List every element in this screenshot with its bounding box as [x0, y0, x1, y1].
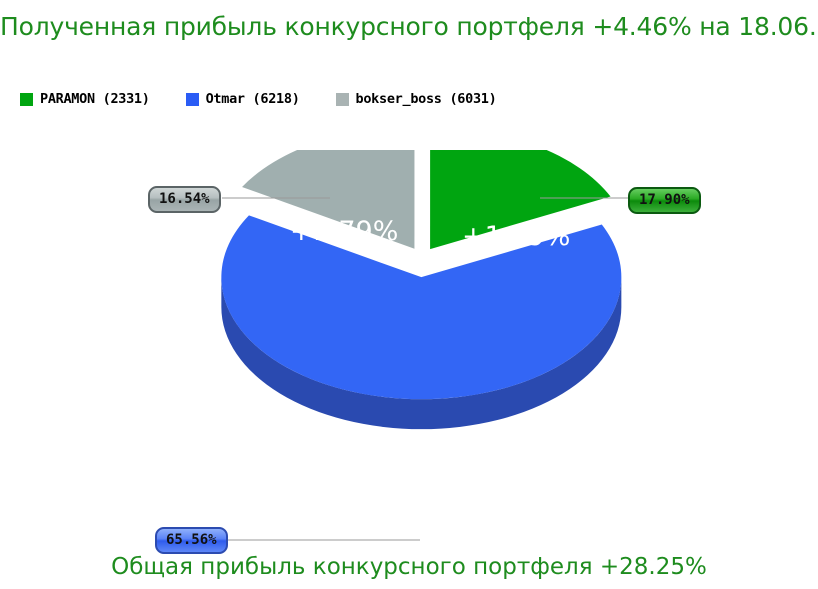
- legend-item-paramon[interactable]: PARAMON (2331): [20, 91, 150, 107]
- legend-item-label: Otmar (6218): [206, 91, 300, 107]
- callout-badge-bokser-boss[interactable]: 16.54%: [148, 186, 221, 213]
- slice-label-bokser-boss: +1.79%: [290, 216, 398, 247]
- chart-footer-caption: Общая прибыль конкурсного портфеля +28.2…: [0, 554, 818, 580]
- page-title: Полученная прибыль конкурсного портфеля …: [0, 12, 818, 41]
- callout-badge-paramon[interactable]: 17.90%: [628, 187, 701, 214]
- legend-square-icon: [186, 93, 199, 106]
- legend-square-icon: [336, 93, 349, 106]
- legend-item-bokser-boss[interactable]: bokser_boss (6031): [336, 91, 497, 107]
- callout-badge-otmar[interactable]: 65.56%: [155, 527, 228, 554]
- legend-item-otmar[interactable]: Otmar (6218): [186, 91, 300, 107]
- chart-legend: PARAMON (2331) Otmar (6218) bokser_boss …: [20, 91, 532, 107]
- legend-square-icon: [20, 93, 33, 106]
- legend-item-label: bokser_boss (6031): [356, 91, 497, 107]
- slice-label-otmar: +5.21%: [375, 450, 483, 481]
- legend-item-label: PARAMON (2331): [40, 91, 150, 107]
- slice-label-paramon: +1.49%: [462, 221, 570, 252]
